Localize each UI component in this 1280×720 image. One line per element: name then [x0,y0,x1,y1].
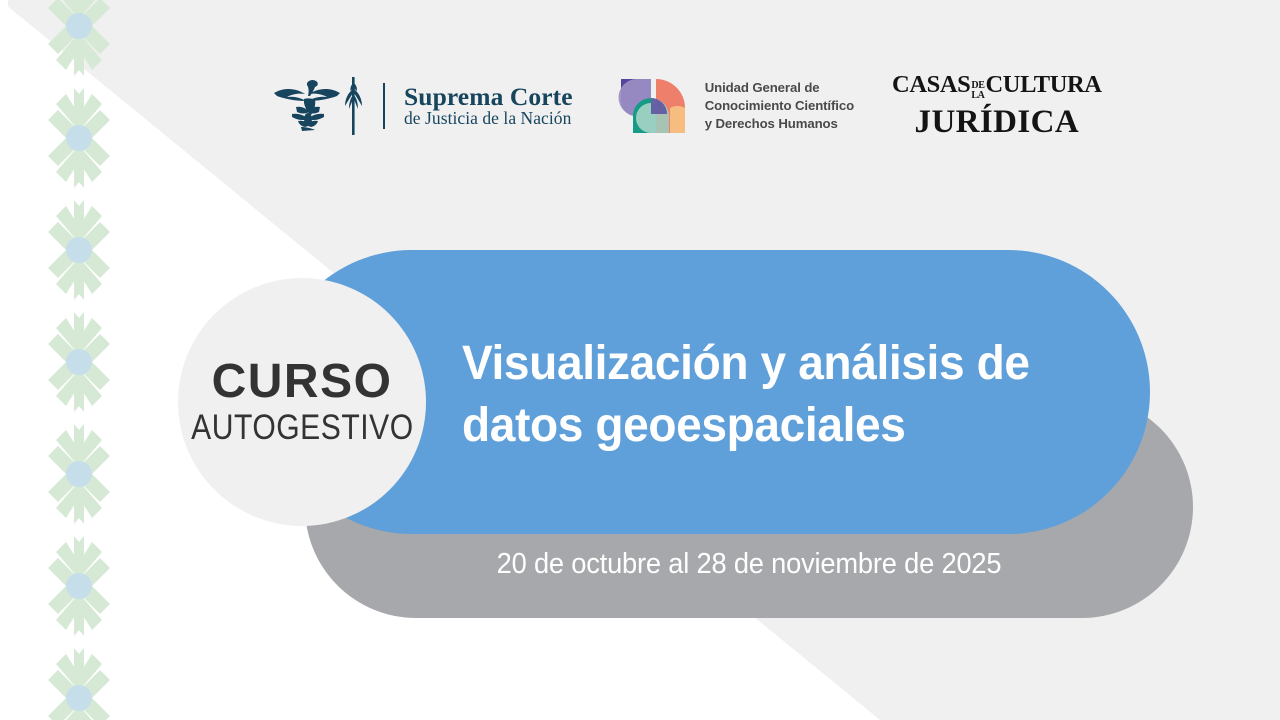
ugccdh-shapes-logo-icon [615,75,691,137]
cculj-word-juridica: JURÍDICA [892,106,1102,139]
logo-suprema-corte: Suprema Corte de Justicia de la Nación [268,70,573,142]
chevron-star-motif [46,530,112,642]
badge-kicker: CURSO [212,358,393,406]
ugccdh-line-2: Conocimiento Científico [705,97,854,115]
chevron-star-motif-icon [46,530,112,642]
chevron-star-motif [46,306,112,418]
chevron-star-motif-icon [46,82,112,194]
chevron-star-motif-icon [46,194,112,306]
scjn-line-1: Suprema Corte [404,84,573,110]
logo-casas-cultura-juridica: CASAS DE LA CULTURA JURÍDICA [892,70,1102,142]
decorative-chevron-ribbon [46,0,112,720]
institutional-logo-bar: Suprema Corte de Justicia de la Nación [268,70,1102,142]
ugccdh-line-1: Unidad General de [705,79,854,97]
cculj-de-la-stack: DE LA [971,81,984,100]
cculj-word-casas: CASAS [892,73,970,98]
mexican-eagle-emblem-icon [268,73,372,139]
chevron-star-motif-icon [46,306,112,418]
logo-unidad-general-wordmark: Unidad General de Conocimiento Científic… [705,79,854,133]
poster-canvas: Suprema Corte de Justicia de la Nación [0,0,1280,720]
ugccdh-line-3: y Derechos Humanos [705,115,854,133]
chevron-star-motif [46,0,112,82]
course-dates: 20 de octubre al 28 de noviembre de 2025 [332,548,1167,581]
chevron-star-motif-icon [46,0,112,82]
course-title: Visualización y análisis de datos geoesp… [462,333,1057,458]
cculj-word-cultura: CULTURA [985,73,1101,98]
chevron-star-motif-icon [46,642,112,720]
chevron-star-motif [46,194,112,306]
chevron-star-motif [46,642,112,720]
scjn-line-2: de Justicia de la Nación [404,110,573,128]
chevron-star-motif-icon [46,418,112,530]
badge-subkicker: AUTOGESTIVO [191,409,414,447]
logo-divider-rule [383,83,385,129]
logo-suprema-corte-wordmark: Suprema Corte de Justicia de la Nación [404,84,573,128]
course-badge-circle: CURSO AUTOGESTIVO [178,278,426,526]
cculj-line-1: CASAS DE LA CULTURA [892,73,1102,104]
cculj-small-la: LA [971,91,984,101]
chevron-star-motif [46,82,112,194]
logo-unidad-general: Unidad General de Conocimiento Científic… [615,70,854,142]
background-left-white-strip [0,0,8,720]
chevron-star-motif [46,418,112,530]
